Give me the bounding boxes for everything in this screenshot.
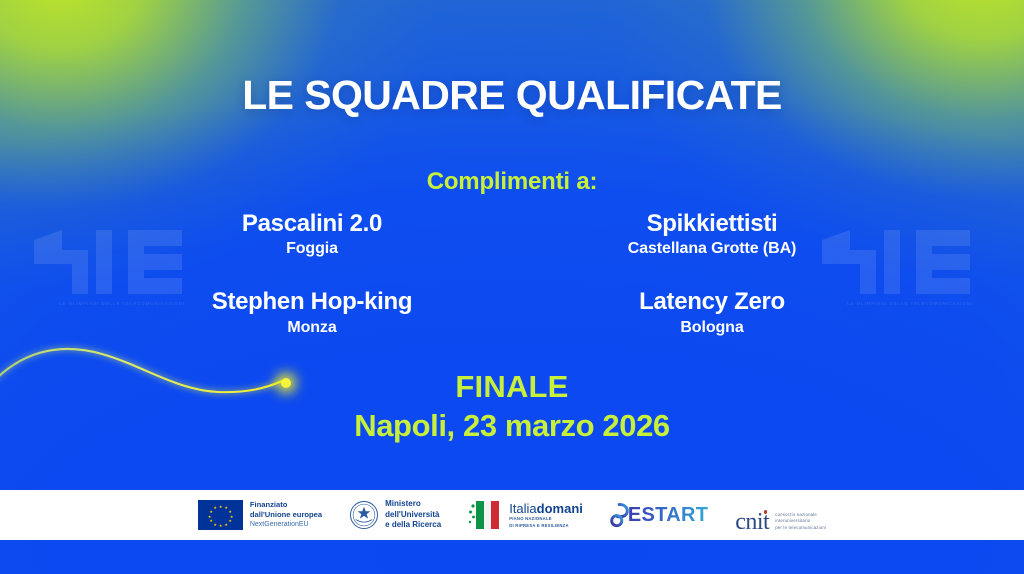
italia-domani-text: Italiadomani PIANO NAZIONALE DI RIPRESA … bbox=[509, 502, 583, 529]
team-name: Spikkiettisti bbox=[512, 210, 912, 238]
italia-domani-sub-2: DI RIPRESA E RESILIENZA bbox=[509, 523, 583, 529]
logo-italia-domani: Italiadomani PIANO NAZIONALE DI RIPRESA … bbox=[468, 496, 583, 534]
mur-line-3: e della Ricerca bbox=[385, 520, 441, 531]
page-title: LE SQUADRE QUALIFICATE bbox=[0, 72, 1024, 119]
mur-logo-text: Ministero dell'Università e della Ricerc… bbox=[385, 499, 441, 531]
cnit-accent-dot-icon bbox=[764, 510, 768, 514]
team-name: Stephen Hop-king bbox=[112, 288, 512, 316]
mur-line-2: dell'Università bbox=[385, 510, 441, 521]
italia-domani-word-bold: domani bbox=[537, 501, 583, 516]
eu-line-1: Finanziato bbox=[250, 500, 322, 510]
cnit-sub-3: per le telecomunicazioni bbox=[775, 525, 826, 531]
team-entry: Pascalini 2.0 Foggia bbox=[112, 210, 512, 258]
italian-flag-icon bbox=[468, 499, 504, 531]
team-city: Castellana Grotte (BA) bbox=[512, 240, 912, 258]
team-entry: Stephen Hop-king Monza bbox=[112, 288, 512, 336]
presentation-slide: LE OLIMPIADI DELLE TELECOMUNICAZIONI LE … bbox=[0, 0, 1024, 574]
logo-ministero-universita-ricerca: Ministero dell'Università e della Ricerc… bbox=[349, 496, 441, 534]
italia-domani-word-light: Italia bbox=[509, 501, 536, 516]
final-label: FINALE bbox=[0, 370, 1024, 405]
qualified-teams-grid: Pascalini 2.0 Foggia Spikkiettisti Caste… bbox=[112, 210, 912, 337]
team-name: Pascalini 2.0 bbox=[112, 210, 512, 238]
final-event-block: FINALE Napoli, 23 marzo 2026 bbox=[0, 370, 1024, 444]
logo-cnit: cnit consorzio nazionale interuniversita… bbox=[735, 496, 826, 534]
italian-republic-emblem-icon bbox=[349, 500, 379, 530]
cnit-subtitle: consorzio nazionale interuniversitario p… bbox=[775, 512, 826, 531]
team-city: Monza bbox=[112, 319, 512, 337]
team-entry: Spikkiettisti Castellana Grotte (BA) bbox=[512, 210, 912, 258]
team-name: Latency Zero bbox=[512, 288, 912, 316]
restart-wordmark: ESTART bbox=[628, 504, 708, 527]
slide-content: LE SQUADRE QUALIFICATE Complimenti a: Pa… bbox=[0, 0, 1024, 574]
team-city: Foggia bbox=[112, 240, 512, 258]
logo-european-union: ★ ★ ★ ★ ★ ★ ★ ★ ★ ★ ★ ★ Finanziato dall'… bbox=[198, 496, 322, 534]
eu-line-3: NextGenerationEU bbox=[250, 520, 322, 529]
team-entry: Latency Zero Bologna bbox=[512, 288, 912, 336]
final-place-date: Napoli, 23 marzo 2026 bbox=[0, 407, 1024, 444]
italia-domani-sub-1: PIANO NAZIONALE bbox=[509, 516, 583, 522]
footer-sponsor-band: ★ ★ ★ ★ ★ ★ ★ ★ ★ ★ ★ ★ Finanziato dall'… bbox=[0, 490, 1024, 540]
eu-line-2: dall'Unione europea bbox=[250, 510, 322, 520]
italia-domani-wordmark: Italiadomani bbox=[509, 502, 583, 516]
mur-line-1: Ministero bbox=[385, 499, 441, 510]
cnit-wordmark: cnit bbox=[735, 511, 769, 534]
congratulations-label: Complimenti a: bbox=[0, 168, 1024, 196]
eu-logo-text: Finanziato dall'Unione europea NextGener… bbox=[250, 500, 322, 529]
eu-flag-icon: ★ ★ ★ ★ ★ ★ ★ ★ ★ ★ ★ ★ bbox=[198, 500, 243, 530]
team-city: Bologna bbox=[512, 319, 912, 337]
logo-restart: ESTART bbox=[610, 496, 708, 534]
restart-r-mark-icon bbox=[610, 502, 630, 528]
